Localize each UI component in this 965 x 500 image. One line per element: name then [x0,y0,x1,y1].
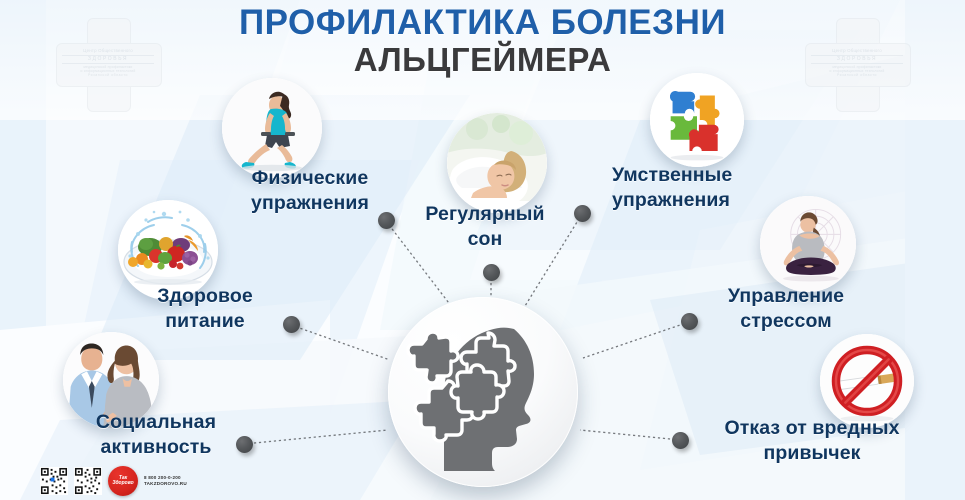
label-mental-exercise: Умственные упражнения [612,163,792,213]
label-stress-management: Управление стрессом [696,284,876,334]
qr-code-icon[interactable] [74,467,102,495]
infographic-poster: Центр Общественного ЗДОРОВЬЯ медицинской… [0,0,965,500]
exercise-photo-icon [222,78,322,178]
website-url: TAKZDOROVO.RU [144,481,187,487]
sleep-photo-icon [447,113,547,213]
connector-stress-management [583,322,689,358]
takzdorovo-logo-icon[interactable]: Так Здорово [108,466,138,496]
node-icon-physical-exercise [222,78,322,178]
no-smoking-icon [820,334,914,428]
connector-social-activity [244,430,388,444]
dot-no-bad-habits[interactable] [672,432,689,449]
qr-code-icon[interactable] [40,467,68,495]
label-physical-exercise: Физические упражнения [230,166,390,216]
head-puzzle-icon [388,297,578,487]
label-regular-sleep: Регулярный сон [400,202,570,252]
dot-social-activity[interactable] [236,436,253,453]
dot-mental-exercise[interactable] [574,205,591,222]
node-icon-no-bad-habits [820,334,914,428]
node-icon-regular-sleep [447,113,547,213]
label-healthy-nutrition: Здоровое питание [130,284,280,334]
contact-info: 8 800 200-0-200 TAKZDOROVO.RU [144,475,187,486]
label-social-activity: Социальная активность [76,410,236,460]
logo-script-text: Так Здорово [108,466,138,496]
puzzle-pieces-icon [650,73,744,167]
node-icon-mental-exercise [650,73,744,167]
dot-regular-sleep[interactable] [483,264,500,281]
connector-healthy-nutrition [291,325,390,360]
center-node [388,297,578,487]
dot-healthy-nutrition[interactable] [283,316,300,333]
connector-no-bad-habits [580,430,680,440]
label-no-bad-habits: Отказ от вредных привычек [692,416,932,466]
footer-badges: Так Здорово 8 800 200-0-200 TAKZDOROVO.R… [40,466,187,496]
